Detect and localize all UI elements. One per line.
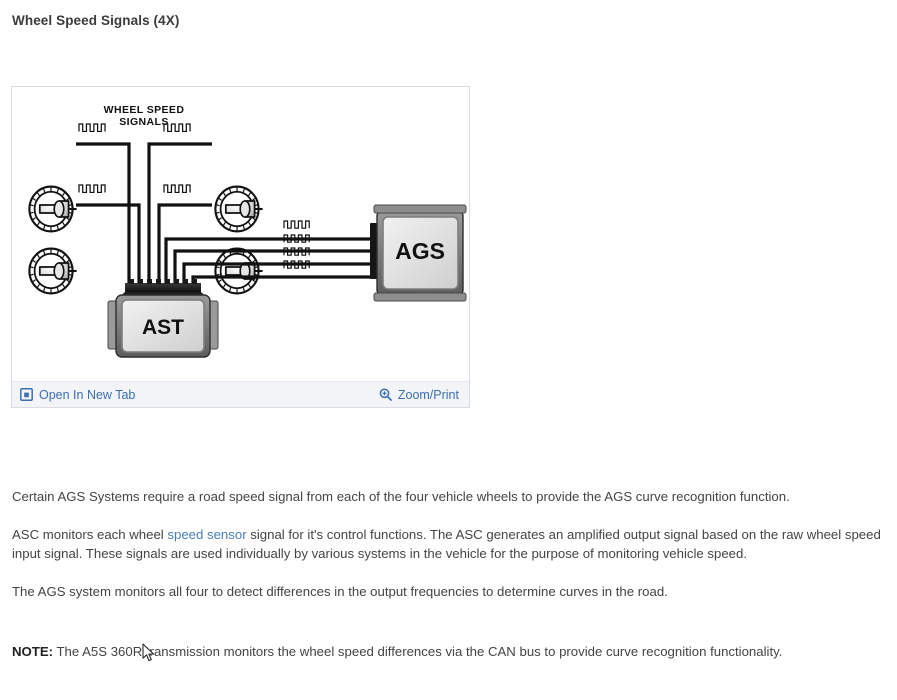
speed-sensor-link[interactable]: speed sensor <box>167 527 246 542</box>
paragraph-2: ASC monitors each wheel speed sensor sig… <box>12 525 892 563</box>
page-root: Wheel Speed Signals (4X) <box>0 0 897 700</box>
note-paragraph: NOTE: The A5S 360R transmission monitors… <box>12 642 892 661</box>
figure-footer-bar: Open In New Tab Zoom/Print <box>12 381 469 407</box>
ast-module-label: AST <box>142 316 184 339</box>
zoom-print-label: Zoom/Print <box>398 388 459 402</box>
figure-panel: WHEEL SPEED SIGNALS <box>11 86 470 408</box>
magnifier-plus-icon <box>379 388 392 401</box>
paragraph-3: The AGS system monitors all four to dete… <box>12 582 892 601</box>
paragraph-1: Certain AGS Systems require a road speed… <box>12 487 892 506</box>
page-title: Wheel Speed Signals (4X) <box>12 13 179 28</box>
article-body: Certain AGS Systems require a road speed… <box>12 487 892 680</box>
zoom-print-link[interactable]: Zoom/Print <box>379 388 459 402</box>
ags-module-label: AGS <box>395 238 445 264</box>
svg-text:SIGNALS: SIGNALS <box>119 116 168 128</box>
wiring-diagram-image[interactable]: WHEEL SPEED SIGNALS <box>12 87 469 381</box>
wiring-diagram-svg: WHEEL SPEED SIGNALS <box>12 87 469 381</box>
ags-module: AGS <box>370 205 466 301</box>
paragraph-2-text-before: ASC monitors each wheel <box>12 527 167 542</box>
svg-text:WHEEL SPEED: WHEEL SPEED <box>104 104 185 116</box>
open-in-new-tab-link[interactable]: Open In New Tab <box>20 388 135 402</box>
note-text: The A5S 360R transmission monitors the w… <box>53 644 782 659</box>
open-in-new-tab-icon <box>20 388 33 401</box>
note-label: NOTE: <box>12 644 53 659</box>
open-in-new-tab-label: Open In New Tab <box>39 388 135 402</box>
